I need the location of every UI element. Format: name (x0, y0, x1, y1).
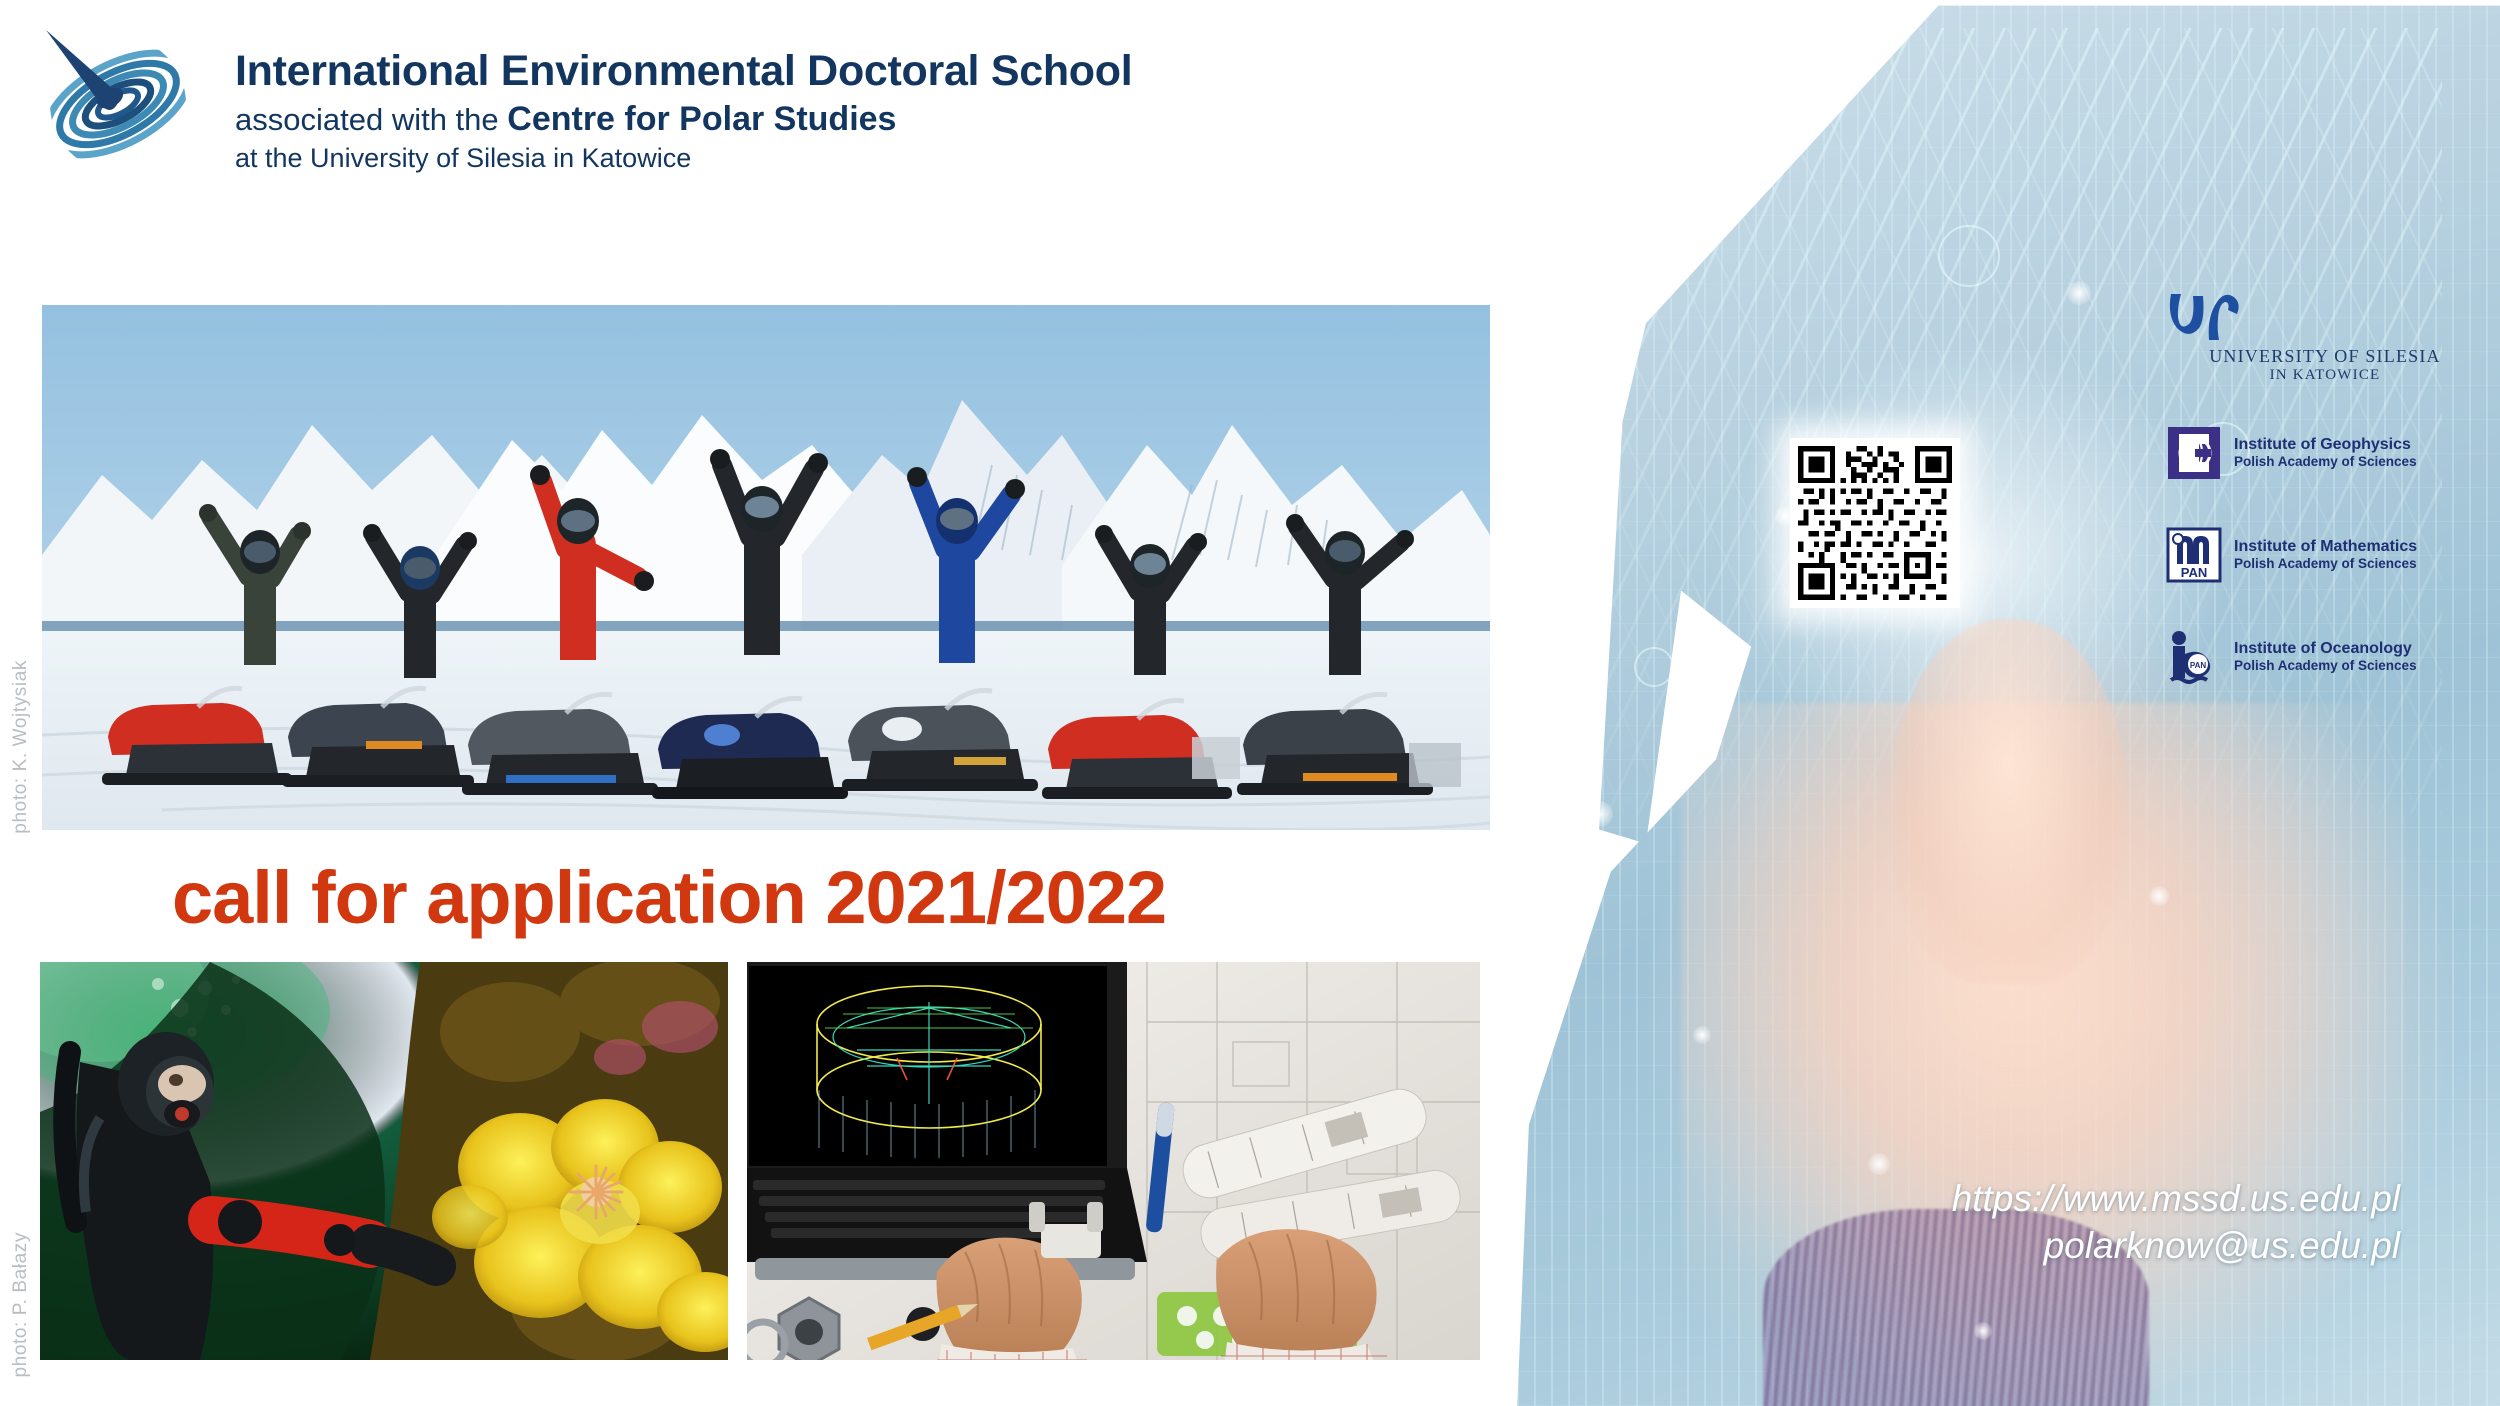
institute-of-mathematics-text: Institute of Mathematics Polish Academy … (2234, 538, 2417, 573)
circuit-ring (1938, 225, 2000, 287)
university-of-silesia-logo: UNIVERSITY OF SILESIA IN KATOWICE (2165, 290, 2485, 384)
circuit-ring (1634, 647, 1674, 687)
engineering-cad-photo (747, 962, 1480, 1360)
affiliation-line: at the University of Silesia in Katowice (235, 145, 1335, 172)
institute-name: Institute of Mathematics (2234, 538, 2417, 557)
cps-spiral-globe-icon (30, 18, 195, 183)
institute-of-mathematics-logo: PAN Institute of Mathematics Polish Acad… (2165, 526, 2485, 584)
institute-of-geophysics-logo: Institute of Geophysics Polish Academy o… (2165, 424, 2485, 482)
title-block: International Environmental Doctoral Sch… (235, 50, 1335, 172)
partner-logos: UNIVERSITY OF SILESIA IN KATOWICE Instit… (2165, 290, 2485, 730)
call-for-application-headline: call for application 2021/2022 (172, 861, 1166, 935)
photo-credit: photo: K. Wojtysiak (10, 660, 32, 834)
institute-parent: Polish Academy of Sciences (2234, 556, 2417, 572)
snowmobile-expedition-photo (42, 305, 1490, 830)
poster-canvas: International Environmental Doctoral Sch… (0, 0, 2500, 1406)
qr-code[interactable] (1790, 438, 1960, 608)
university-of-silesia-mark (2165, 290, 2485, 342)
subtitle-prefix: associated with the (235, 102, 507, 137)
institute-of-oceanology-text: Institute of Oceanology Polish Academy o… (2234, 640, 2417, 675)
university-location: IN KATOWICE (2165, 367, 2485, 384)
photo-credit: photo: P. Bałazy (10, 1232, 32, 1378)
institute-of-oceanology-logo: PAN Institute of Oceanology Polish Acade… (2165, 628, 2485, 686)
underwater-diver-photo (40, 962, 728, 1360)
institute-of-geophysics-mark (2165, 424, 2223, 482)
page-title: International Environmental Doctoral Sch… (235, 50, 1335, 93)
website-link[interactable]: https://www.mssd.us.edu.pl (1610, 1175, 2400, 1222)
institute-parent: Polish Academy of Sciences (2234, 658, 2417, 674)
institute-name: Institute of Oceanology (2234, 640, 2417, 659)
circuit-node-dot (2149, 886, 2169, 906)
institute-of-oceanology-mark: PAN (2165, 628, 2223, 686)
circuit-node-dot (1974, 1322, 1992, 1340)
svg-text:PAN: PAN (2190, 661, 2207, 670)
institute-name: Institute of Geophysics (2234, 436, 2417, 455)
pointing-finger (1892, 619, 2126, 985)
svg-text:PAN: PAN (2181, 565, 2207, 580)
university-name: UNIVERSITY OF SILESIA (2165, 346, 2485, 367)
circuit-node-dot (1693, 1026, 1711, 1044)
subtitle-line: associated with the Centre for Polar Stu… (235, 102, 1335, 136)
email-link[interactable]: polarknow@us.edu.pl (1610, 1222, 2400, 1269)
brand-header: International Environmental Doctoral Sch… (30, 18, 1330, 178)
subtitle-strong: Centre for Polar Studies (507, 100, 896, 138)
circuit-node-dot (1868, 1153, 1890, 1175)
institute-of-geophysics-text: Institute of Geophysics Polish Academy o… (2234, 436, 2417, 471)
institute-parent: Polish Academy of Sciences (2234, 454, 2417, 470)
contact-block: https://www.mssd.us.edu.pl polarknow@us.… (1610, 1175, 2400, 1270)
institute-of-mathematics-mark: PAN (2165, 526, 2223, 584)
